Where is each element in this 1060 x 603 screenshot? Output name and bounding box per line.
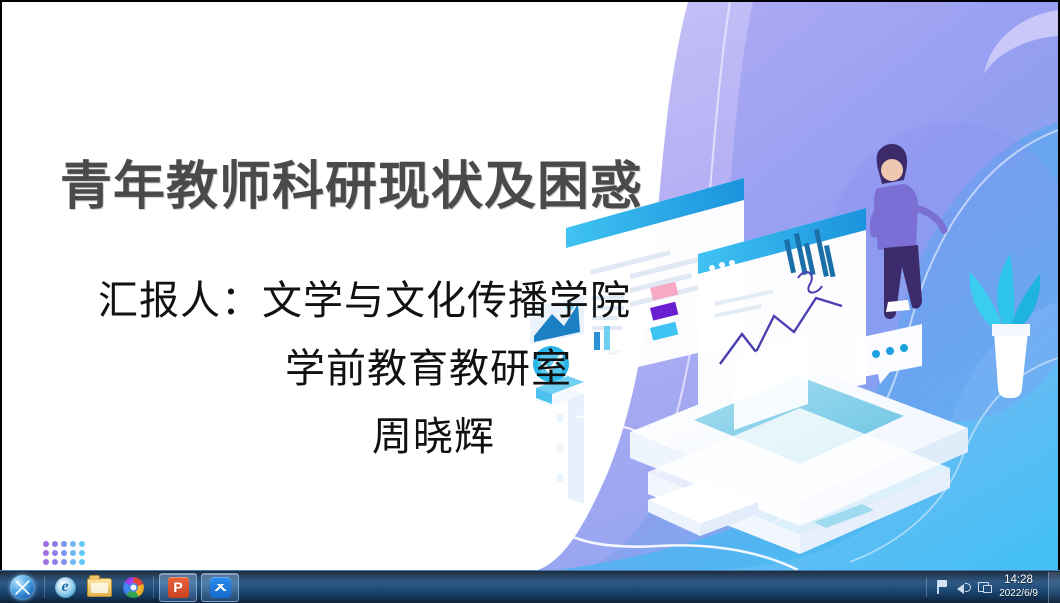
powerpoint-icon [168, 577, 189, 598]
logo-dot [79, 541, 85, 547]
chrome-browser-icon[interactable] [118, 574, 148, 601]
dashboard-window-front [698, 208, 866, 422]
presenter-line-department: 汇报人：文学与文化传播学院 [98, 268, 631, 326]
start-button[interactable] [3, 573, 41, 602]
system-tray[interactable]: 14:28 2022/6/9 [921, 571, 1046, 603]
powerpoint-slide[interactable]: 青年教师科研现状及困惑 汇报人：文学与文化传播学院 学前教育教研室 周晓辉 [2, 2, 1058, 570]
windows-taskbar[interactable]: 14:28 2022/6/9 [0, 570, 1060, 603]
show-desktop-button[interactable] [1048, 572, 1060, 603]
clock-time: 14:28 [999, 574, 1038, 587]
logo-dot [70, 550, 76, 556]
meeting-app-icon [210, 577, 231, 598]
logo-dot [70, 559, 76, 565]
clock-date: 2022/6/9 [999, 587, 1038, 600]
logo-dot [61, 559, 67, 565]
action-center-flag-icon[interactable] [934, 578, 951, 596]
logo-dot [52, 559, 58, 565]
logo-dot [52, 550, 58, 556]
potted-plant [970, 254, 1040, 398]
logo-dot [43, 550, 49, 556]
powerpoint-taskbar-button[interactable] [159, 573, 197, 602]
tray-divider [926, 577, 927, 597]
windows-logo-icon [10, 575, 35, 600]
logo-dot [43, 541, 49, 547]
page-title: 青年教师科研现状及困惑 [60, 144, 643, 219]
taskbar-divider [153, 576, 154, 598]
person-figure [873, 144, 944, 319]
logo-dot [52, 541, 58, 547]
dot-grid-logo [43, 541, 88, 568]
presenter-line-office: 学前教育教研室 [285, 336, 572, 394]
desktop-screen: 青年教师科研现状及困惑 汇报人：文学与文化传播学院 学前教育教研室 周晓辉 [0, 0, 1060, 603]
network-icon[interactable] [976, 578, 993, 596]
meeting-app-taskbar-button[interactable] [201, 573, 239, 602]
logo-dot [79, 559, 85, 565]
clock[interactable]: 14:28 2022/6/9 [995, 574, 1044, 600]
taskbar-divider [44, 576, 45, 598]
logo-dot [79, 550, 85, 556]
presenter-line-name: 周晓辉 [372, 404, 495, 462]
taskbar-empty-area[interactable] [241, 571, 921, 603]
file-explorer-icon[interactable] [84, 574, 114, 601]
volume-speaker-icon[interactable] [955, 578, 972, 596]
internet-explorer-icon[interactable] [50, 574, 80, 601]
logo-dot [43, 559, 49, 565]
chat-bubble-card [858, 324, 922, 384]
logo-dot [61, 541, 67, 547]
logo-dot [61, 550, 67, 556]
slide-text-block: 青年教师科研现状及困惑 汇报人：文学与文化传播学院 学前教育教研室 周晓辉 [2, 2, 702, 522]
logo-dot [70, 541, 76, 547]
